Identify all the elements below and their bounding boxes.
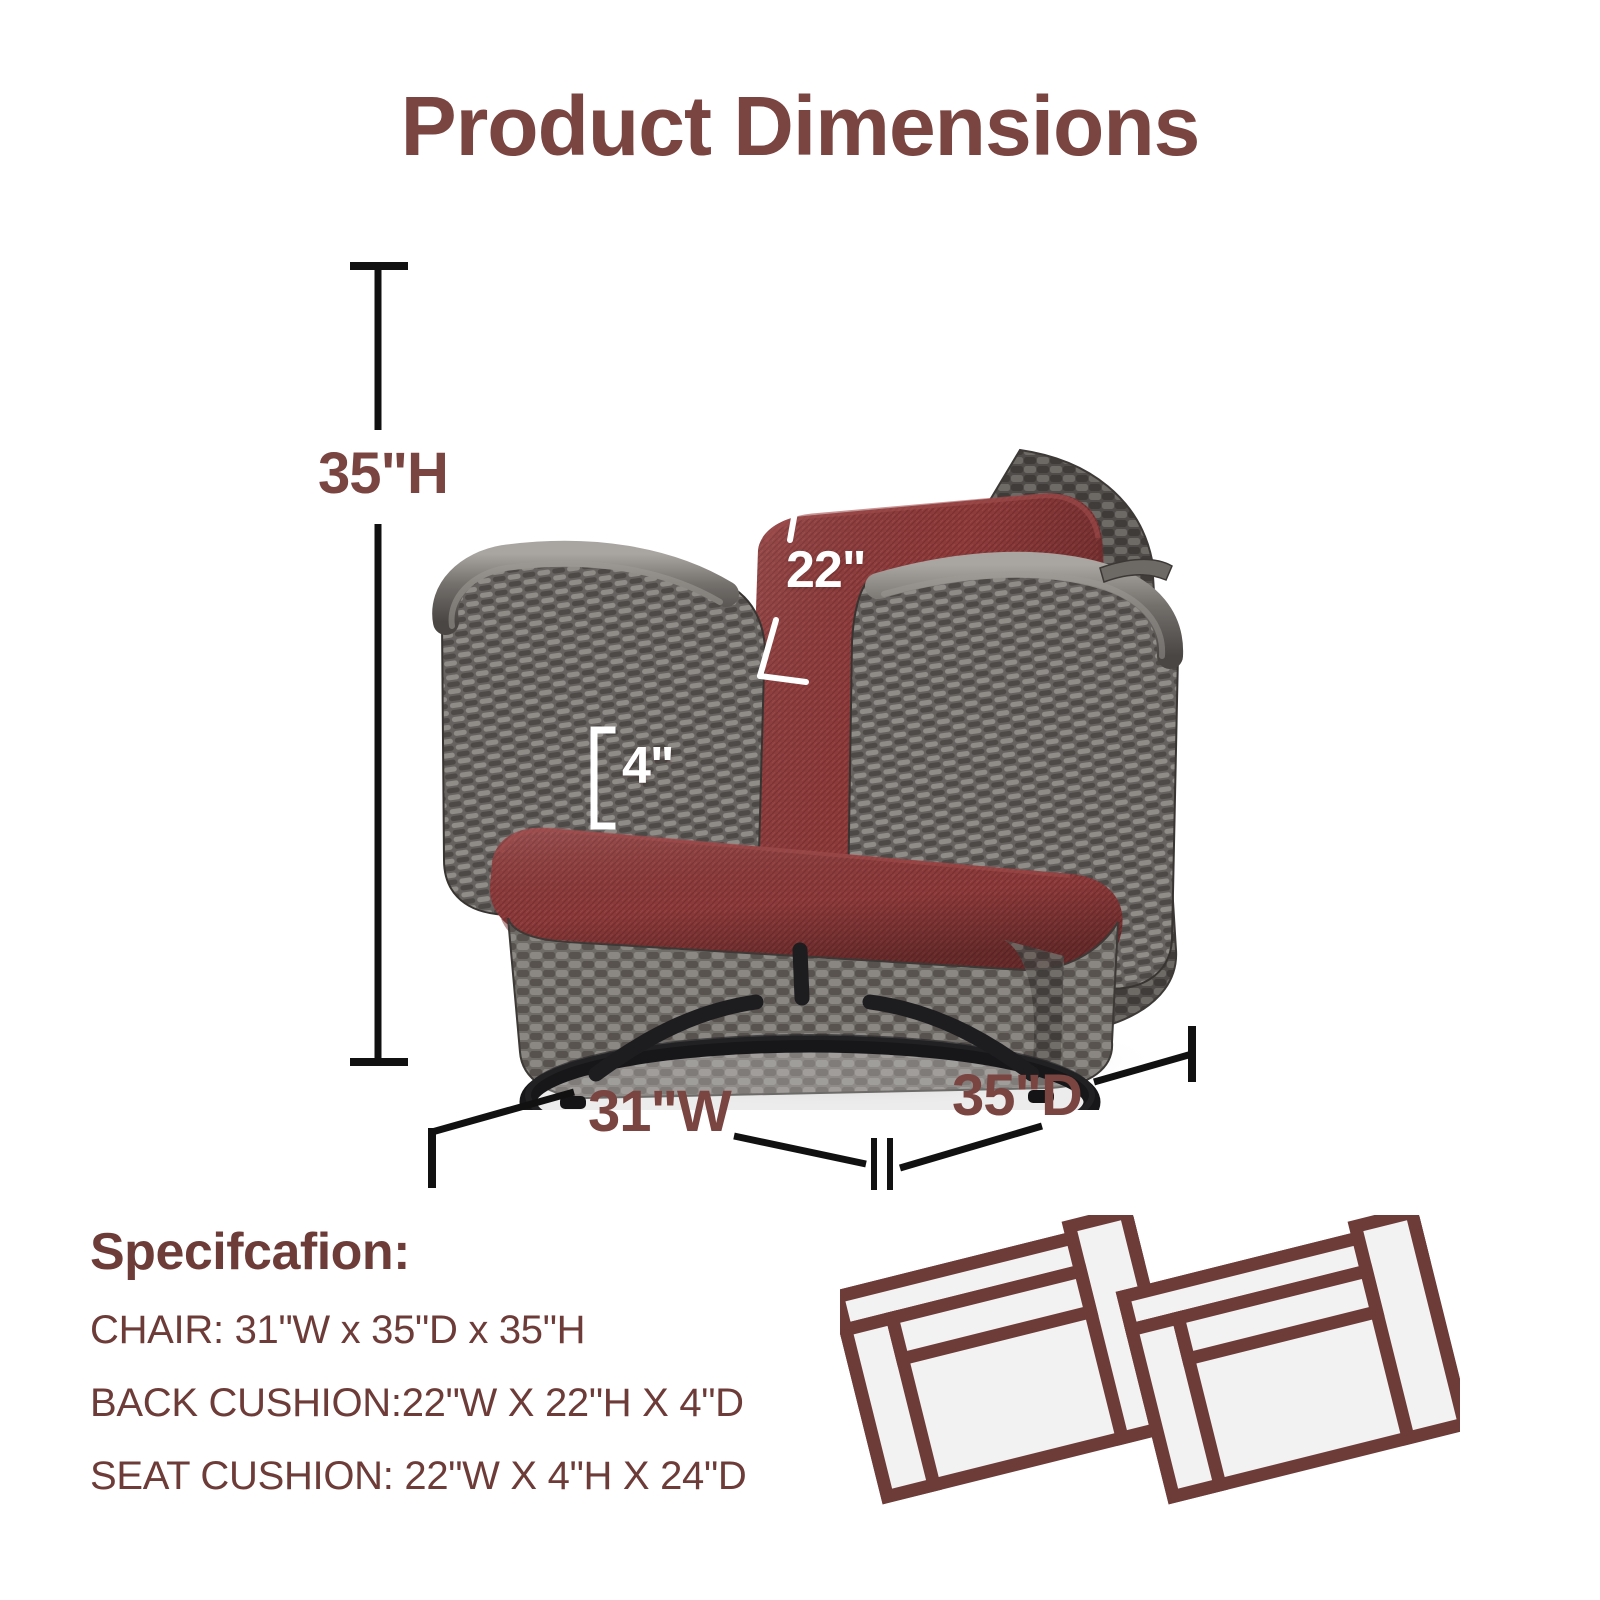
cushion-outline-icon (1121, 1215, 1460, 1497)
seat-cushion-dimension-label: 4" (622, 736, 674, 796)
depth-dimension-label: 35"D (952, 1062, 1082, 1129)
specification-block: Specifcafion: CHAIR: 31"W x 35"D x 35"H … (90, 1222, 850, 1527)
product-image-chair (400, 250, 1200, 1110)
back-cushion-dimension-label: 22" (786, 540, 866, 600)
height-dimension-label: 35"H (318, 440, 448, 507)
specification-heading: Specifcafion: (90, 1222, 850, 1282)
specification-line-seat-cushion: SEAT CUSHION: 22"W X 4"H X 24"D (90, 1454, 850, 1499)
page-title: Product Dimensions (0, 78, 1600, 175)
dimension-junction-tick (874, 1138, 890, 1190)
specification-line-back-cushion: BACK CUSHION:22"W X 22"H X 4"D (90, 1381, 850, 1426)
width-dimension-label: 31"W (588, 1078, 731, 1145)
specification-line-chair: CHAIR: 31"W x 35"D x 35"H (90, 1308, 850, 1353)
cushion-outline-icons (840, 1215, 1460, 1545)
product-dimensions-infographic: Product Dimensions (0, 0, 1600, 1600)
cushion-outline-icon (840, 1215, 1178, 1497)
